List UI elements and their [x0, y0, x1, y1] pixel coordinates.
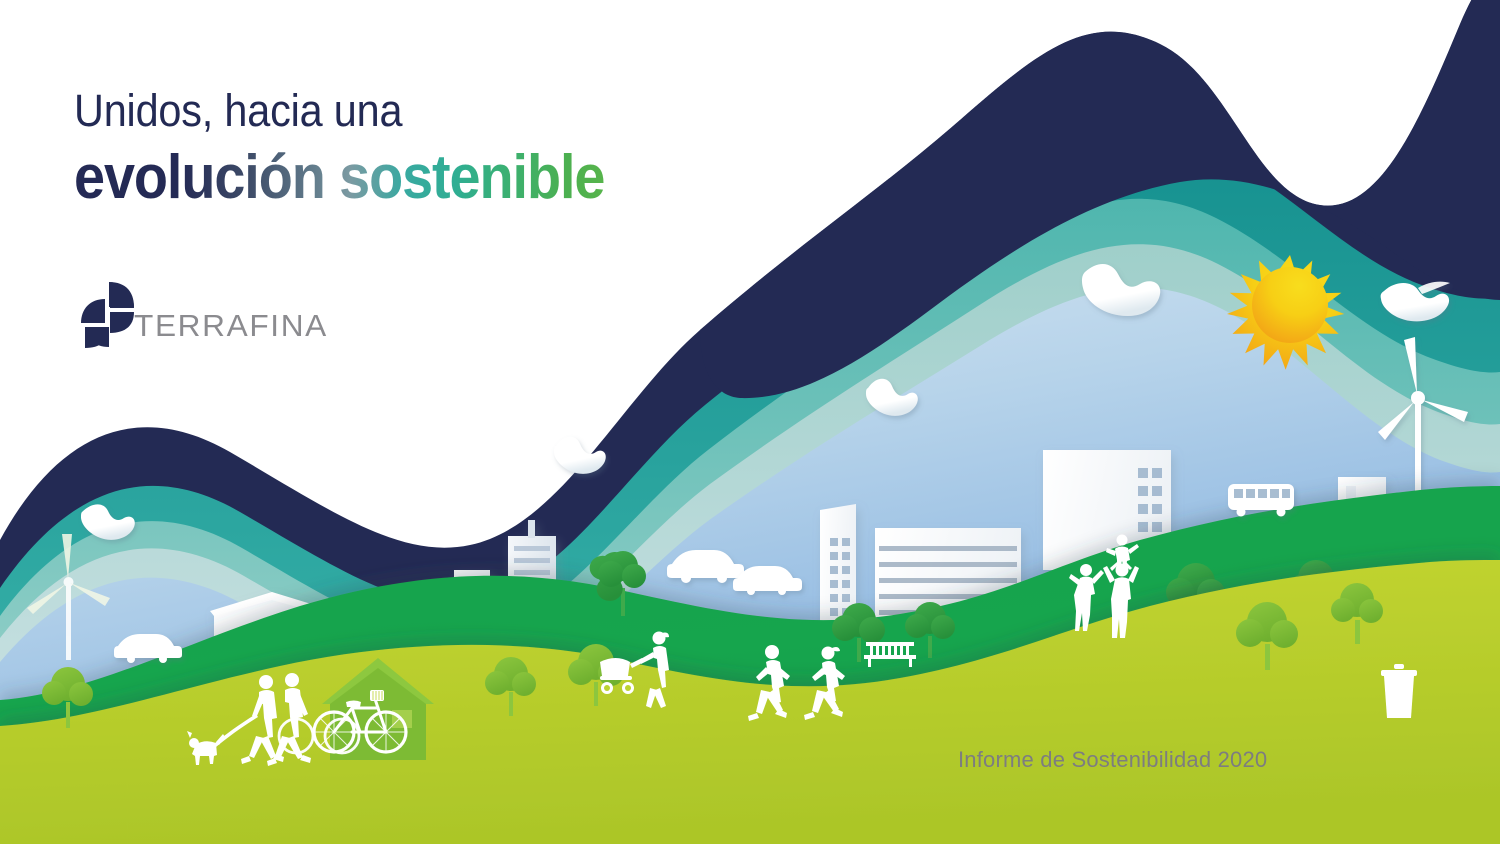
- terrafina-wordmark: TERRAFINA: [134, 308, 328, 344]
- terrafina-leaf-mark: [76, 280, 138, 348]
- report-caption: Informe de Sostenibilidad 2020: [958, 747, 1267, 773]
- sustainability-report-cover: Unidos, hacia una evolución sostenible T…: [0, 0, 1500, 844]
- landscape-illustration: [0, 0, 1500, 844]
- cloud-icon-left: [554, 437, 606, 474]
- terrafina-logo[interactable]: TERRAFINA: [76, 280, 324, 348]
